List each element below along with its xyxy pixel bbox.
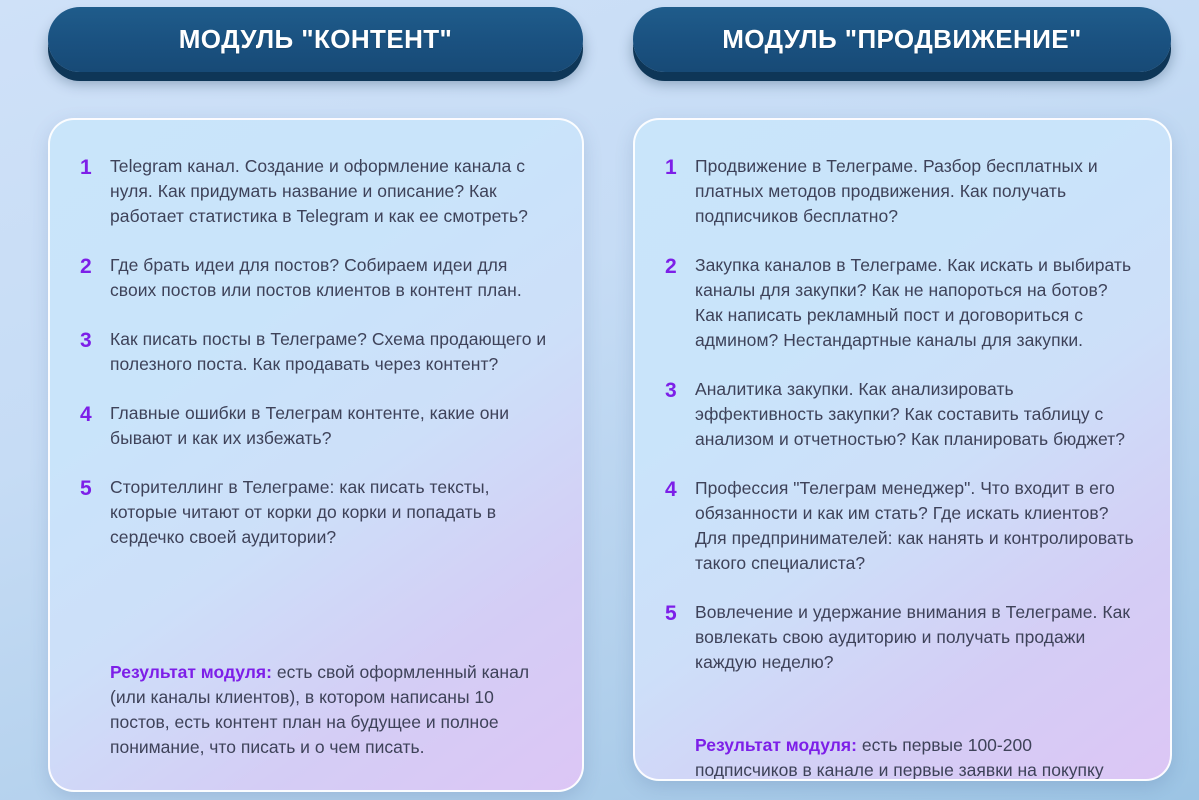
list-item-text: Telegram канал. Создание и оформление ка…: [110, 154, 552, 229]
list-item-text: Продвижение в Телеграме. Разбор бесплатн…: [695, 154, 1140, 229]
list-item-number: 4: [80, 401, 110, 427]
module-header-promotion: МОДУЛЬ "ПРОДВИЖЕНИЕ": [633, 7, 1171, 72]
list-item: 1 Продвижение в Телеграме. Разбор беспла…: [665, 154, 1140, 229]
module-result-label: Результат модуля:: [695, 735, 857, 755]
module-card-promotion: 1 Продвижение в Телеграме. Разбор беспла…: [633, 118, 1172, 781]
list-item-number: 5: [665, 600, 695, 626]
list-item-text: Профессия "Телеграм менеджер". Что входи…: [695, 476, 1140, 576]
list-item-number: 1: [80, 154, 110, 180]
module-result: Результат модуля: есть первые 100-200 по…: [665, 733, 1140, 781]
list-item: 3 Аналитика закупки. Как анализировать э…: [665, 377, 1140, 452]
list-item: 3 Как писать посты в Телеграме? Схема пр…: [80, 327, 552, 377]
module-header-label: МОДУЛЬ "ПРОДВИЖЕНИЕ": [722, 24, 1082, 55]
list-item: 4 Главные ошибки в Телеграм контенте, ка…: [80, 401, 552, 451]
list-item: 1 Telegram канал. Создание и оформление …: [80, 154, 552, 229]
list-item: 5 Вовлечение и удержание внимания в Теле…: [665, 600, 1140, 675]
list-item-number: 3: [80, 327, 110, 353]
list-item-text: Аналитика закупки. Как анализировать эфф…: [695, 377, 1140, 452]
list-item-text: Как писать посты в Телеграме? Схема прод…: [110, 327, 552, 377]
module-result-label: Результат модуля:: [110, 662, 272, 682]
list-item-text: Где брать идеи для постов? Собираем идеи…: [110, 253, 552, 303]
list-item-number: 1: [665, 154, 695, 180]
list-item-number: 2: [80, 253, 110, 279]
module-card-content: 1 Telegram канал. Создание и оформление …: [48, 118, 584, 792]
list-item: 2 Где брать идеи для постов? Собираем ид…: [80, 253, 552, 303]
list-item-text: Закупка каналов в Телеграме. Как искать …: [695, 253, 1140, 353]
list-item-text: Главные ошибки в Телеграм контенте, каки…: [110, 401, 552, 451]
list-item: 5 Сторителлинг в Телеграме: как писать т…: [80, 475, 552, 550]
list-item-number: 5: [80, 475, 110, 501]
card-content-area: 1 Telegram канал. Создание и оформление …: [50, 120, 582, 790]
list-item-number: 2: [665, 253, 695, 279]
slide-canvas: МОДУЛЬ "КОНТЕНТ" МОДУЛЬ "ПРОДВИЖЕНИЕ" 1 …: [0, 0, 1199, 800]
module-header-label: МОДУЛЬ "КОНТЕНТ": [179, 24, 453, 55]
list-item-number: 3: [665, 377, 695, 403]
list-item-text: Вовлечение и удержание внимания в Телегр…: [695, 600, 1140, 675]
list-item-number: 4: [665, 476, 695, 502]
list-item-text: Сторителлинг в Телеграме: как писать тек…: [110, 475, 552, 550]
card-content-area: 1 Продвижение в Телеграме. Разбор беспла…: [635, 120, 1170, 779]
module-header-content: МОДУЛЬ "КОНТЕНТ": [48, 7, 583, 72]
module-result: Результат модуля: есть свой оформленный …: [80, 660, 552, 760]
list-item: 2 Закупка каналов в Телеграме. Как искат…: [665, 253, 1140, 353]
list-item: 4 Профессия "Телеграм менеджер". Что вхо…: [665, 476, 1140, 576]
